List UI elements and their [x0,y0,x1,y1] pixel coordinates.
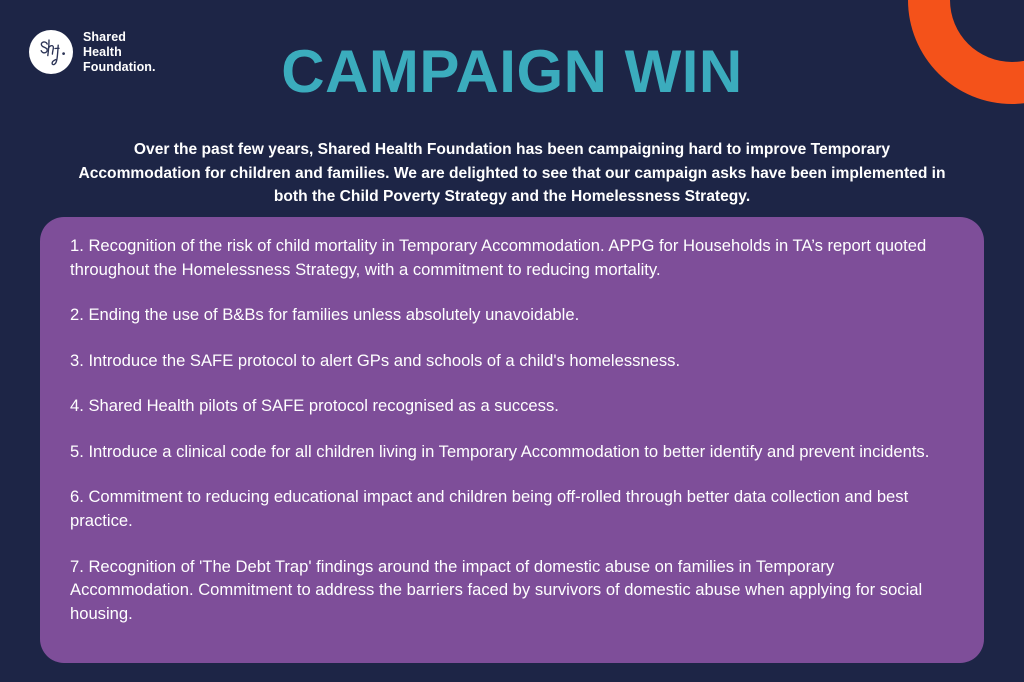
list-item: 7. Recognition of 'The Debt Trap' findin… [70,555,954,626]
campaign-win-poster: Shared Health Foundation. CAMPAIGN WIN O… [0,0,1024,682]
intro-paragraph: Over the past few years, Shared Health F… [72,138,952,209]
list-item: 5. Introduce a clinical code for all chi… [70,440,954,464]
list-item: 4. Shared Health pilots of SAFE protocol… [70,394,954,418]
campaign-wins-list: 1. Recognition of the risk of child mort… [70,234,954,625]
list-item: 3. Introduce the SAFE protocol to alert … [70,349,954,373]
list-item: 1. Recognition of the risk of child mort… [70,234,954,281]
list-item: 2. Ending the use of B&Bs for families u… [70,303,954,327]
page-title: CAMPAIGN WIN [0,42,1024,102]
campaign-wins-card: 1. Recognition of the risk of child mort… [40,217,984,663]
list-item: 6. Commitment to reducing educational im… [70,485,954,532]
